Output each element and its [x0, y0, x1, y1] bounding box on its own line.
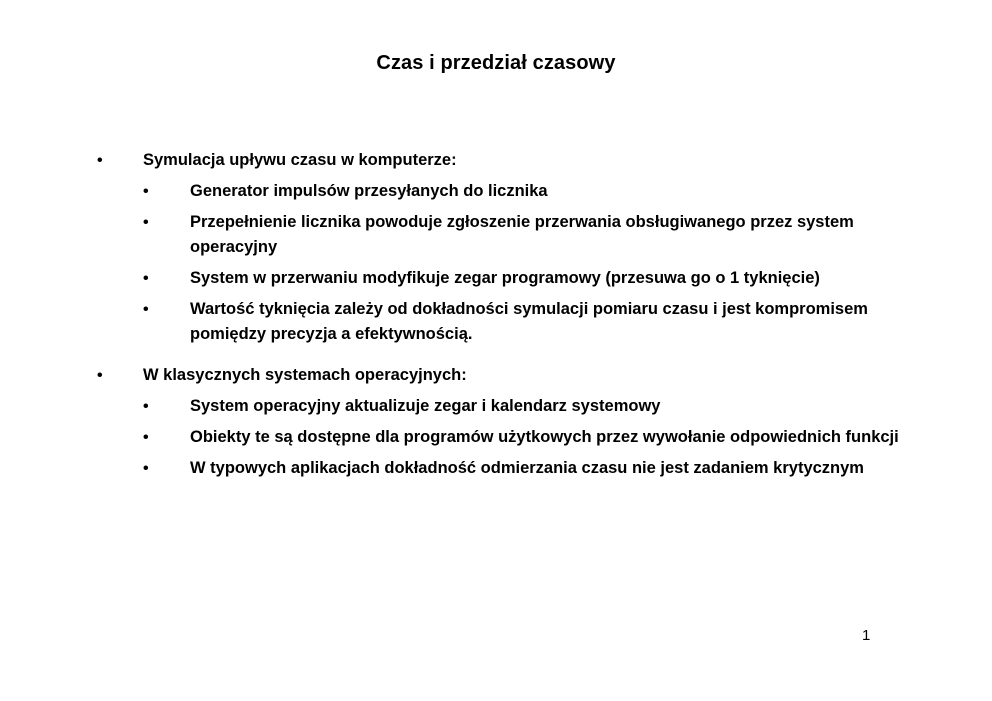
bullet-text: Generator impulsów przesyłanych do liczn…	[190, 179, 902, 204]
bullet-level2: • Przepełnienie licznika powoduje zgłosz…	[0, 210, 992, 260]
bullet-marker-icon: •	[97, 363, 103, 388]
bullet-text: Obiekty te są dostępne dla programów uży…	[190, 425, 902, 450]
bullet-text: Wartość tyknięcia zależy od dokładności …	[190, 297, 902, 347]
bullet-marker-icon: •	[97, 148, 103, 173]
bullet-marker-icon: •	[143, 297, 149, 322]
bullet-text: Przepełnienie licznika powoduje zgłoszen…	[190, 210, 902, 260]
bullet-level2: • System w przerwaniu modyfikuje zegar p…	[0, 266, 992, 291]
bullet-marker-icon: •	[143, 425, 149, 450]
bullet-level2: • System operacyjny aktualizuje zegar i …	[0, 394, 992, 419]
bullet-level2: • Obiekty te są dostępne dla programów u…	[0, 425, 992, 450]
bullet-text: W klasycznych systemach operacyjnych:	[143, 363, 902, 388]
slide: Czas i przedział czasowy • Symulacja upł…	[0, 0, 992, 701]
section-spacer	[0, 353, 992, 363]
bullet-level2: • W typowych aplikacjach dokładność odmi…	[0, 456, 992, 481]
bullet-marker-icon: •	[143, 210, 149, 235]
bullet-marker-icon: •	[143, 266, 149, 291]
bullet-marker-icon: •	[143, 179, 149, 204]
bullet-text: W typowych aplikacjach dokładność odmier…	[190, 456, 902, 481]
sublist-1: • Generator impulsów przesyłanych do lic…	[0, 179, 992, 347]
bullet-level1: • W klasycznych systemach operacyjnych:	[0, 363, 992, 388]
bullet-text: System w przerwaniu modyfikuje zegar pro…	[190, 266, 902, 291]
bullet-level2: • Wartość tyknięcia zależy od dokładnośc…	[0, 297, 992, 347]
bullet-marker-icon: •	[143, 394, 149, 419]
bullet-level2: • Generator impulsów przesyłanych do lic…	[0, 179, 992, 204]
bullet-level1: • Symulacja upływu czasu w komputerze:	[0, 148, 992, 173]
bullet-marker-icon: •	[143, 456, 149, 481]
bullet-text: Symulacja upływu czasu w komputerze:	[143, 148, 902, 173]
bullet-text: System operacyjny aktualizuje zegar i ka…	[190, 394, 902, 419]
sublist-2: • System operacyjny aktualizuje zegar i …	[0, 394, 992, 481]
page-number: 1	[862, 627, 870, 644]
slide-title: Czas i przedział czasowy	[0, 52, 992, 75]
slide-body: • Symulacja upływu czasu w komputerze: •…	[0, 148, 992, 487]
